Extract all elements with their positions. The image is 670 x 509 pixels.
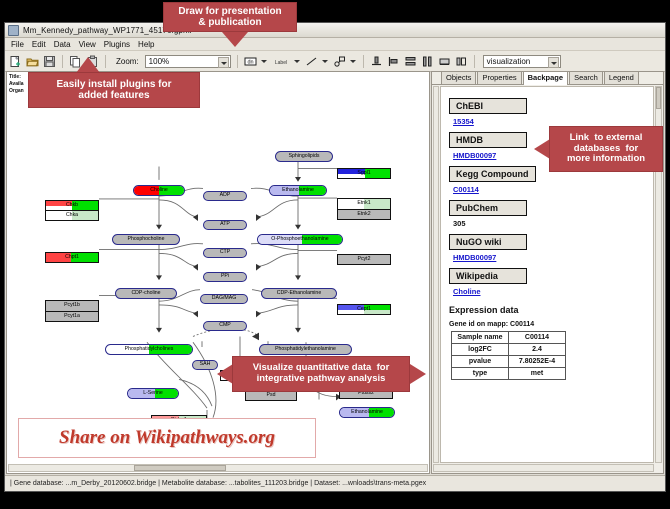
pathway-canvas[interactable]: Title: Availa Organ [7, 72, 429, 473]
gene-label: Chka [66, 213, 78, 218]
node-label: Ethanolamine [282, 188, 314, 193]
db-header-nugo-wiki: NuGO wiki [449, 234, 527, 250]
line-dropdown-icon[interactable] [322, 55, 329, 68]
node-ethanolamine-top[interactable]: Ethanolamine [269, 185, 327, 196]
node-sphingolipids[interactable]: Sphingolipids [275, 151, 333, 162]
gene-label: Pcyt1a [64, 314, 80, 319]
gene-chka[interactable]: Chka [45, 210, 99, 221]
node-label: O-Phosphoethanolamine [271, 237, 328, 242]
node-label: Phosphocholine [128, 237, 165, 242]
gene-chpt1[interactable]: Chpt1 [45, 252, 99, 263]
share-text: Share on Wikipathways.org [59, 427, 275, 449]
table-row: log2FC 2.4 [452, 344, 566, 356]
callout-share-wikipathways: Share on Wikipathways.org [18, 418, 316, 458]
callout-draw-for-presentation: Draw for presentation& publication [163, 2, 297, 32]
node-choline-top[interactable]: Choline [133, 185, 185, 196]
tab-properties[interactable]: Properties [477, 71, 521, 84]
align-top-icon[interactable] [370, 55, 383, 68]
line-tool-icon[interactable] [305, 55, 318, 68]
callout-visualize-arrow-left [217, 364, 233, 384]
expression-data-heading: Expression data [449, 305, 645, 315]
toolbar-separator [62, 55, 63, 68]
toolbar-separator-3 [237, 55, 238, 68]
status-bar: | Gene database: ...m_Derby_20120602.bri… [5, 475, 665, 491]
organism-label: Organ [9, 88, 24, 95]
node-label: SAH [200, 362, 211, 367]
callout-visualize-text: Visualize quantitative data forintegrati… [253, 363, 390, 385]
gene-label: Pcyt1b [64, 303, 80, 308]
gene-label: Sgpl1 [357, 171, 370, 176]
group-icon[interactable] [438, 55, 451, 68]
node-label: CDP-Ethanolamine [277, 291, 321, 296]
node-label: CMP [219, 323, 231, 328]
toolbar-separator-2 [105, 55, 106, 68]
canvas-hscroll-thumb[interactable] [134, 465, 226, 471]
gene-label: Chkb [66, 203, 78, 208]
gene-chkb[interactable]: Chkb [45, 200, 99, 210]
db-link-kegg-compound[interactable]: C00114 [453, 185, 645, 194]
pathway-canvas-panel[interactable]: Title: Availa Organ [6, 71, 430, 474]
gene-sgpl1[interactable]: Sgpl1 [337, 168, 391, 179]
node-label: ATP [220, 222, 230, 227]
menu-item-data[interactable]: Data [54, 40, 71, 49]
gene-label: Psd [267, 393, 276, 398]
new-file-icon[interactable] [9, 55, 22, 68]
db-link-nugo-wiki[interactable]: HMDB00097 [453, 253, 645, 262]
toolbar-separator-5 [474, 55, 475, 68]
db-header-kegg-compound: Kegg Compound [449, 166, 536, 182]
node-label: L-Serine [143, 391, 163, 396]
table-row: pvalue 7.80252E-4 [452, 356, 566, 368]
node-label: CDP-choline [131, 291, 160, 296]
callout-links-text: Link to externaldatabases formore inform… [567, 133, 645, 166]
node-label: Phosphatidylcholines [125, 347, 174, 352]
expr-val-pvalue: 7.80252E-4 [509, 356, 566, 368]
callout-draw-text: Draw for presentation& publication [178, 6, 281, 29]
node-ctp[interactable]: CTP [203, 248, 247, 258]
callout-visualize-data: Visualize quantitative data forintegrati… [232, 356, 410, 392]
expression-table: Sample name C00114 log2FC 2.4 pvalue 7.8… [451, 331, 566, 380]
callout-external-links: Link to externaldatabases formore inform… [549, 126, 663, 172]
node-sah[interactable]: SAH [192, 360, 218, 370]
node-label: Sphingolipids [289, 154, 320, 159]
shape-tool-icon[interactable] [333, 55, 346, 68]
node-phosphatidylcholines[interactable]: Phosphatidylcholines [105, 344, 193, 355]
tab-search[interactable]: Search [569, 71, 603, 84]
order-icon[interactable] [455, 55, 468, 68]
node-dag-mag[interactable]: DAG/MAG [200, 294, 248, 304]
toolbar: Zoom: 100% dn Label [5, 51, 665, 72]
pathway-title-block: Title: Availa Organ [9, 74, 24, 95]
expr-val-log2fc: 2.4 [509, 344, 566, 356]
title-label: Title: [9, 74, 24, 81]
callout-draw-arrow [222, 32, 248, 47]
node-label: PPi [221, 274, 229, 279]
expr-key-sample-name: Sample name [452, 332, 509, 344]
db-link-chebi[interactable]: 15354 [453, 117, 645, 126]
expr-key-type: type [452, 368, 509, 380]
menu-item-help[interactable]: Help [138, 40, 154, 49]
tab-objects[interactable]: Objects [441, 71, 476, 84]
table-row: type met [452, 368, 566, 380]
gene-label: Etnk2 [357, 212, 370, 217]
db-header-chebi: ChEBI [449, 98, 527, 114]
node-cdp-ethanolamine[interactable]: CDP-Ethanolamine [261, 288, 337, 299]
node-ethanolamine-right[interactable]: Ethanolamine [339, 407, 395, 418]
node-label: CTP [220, 250, 230, 255]
datanode-tool-icon[interactable]: dn [244, 55, 257, 68]
tab-backpage[interactable]: Backpage [523, 71, 568, 85]
db-header-pubchem: PubChem [449, 200, 527, 216]
open-folder-icon[interactable] [26, 55, 39, 68]
visualization-combobox[interactable]: visualization [483, 55, 561, 68]
node-o-phosphoethanolamine[interactable]: O-Phosphoethanolamine [257, 234, 343, 245]
node-ppi[interactable]: PPi [203, 272, 247, 282]
node-cdp-choline[interactable]: CDP-choline [115, 288, 177, 299]
gene-label: Pcyt2 [358, 257, 371, 262]
callout-plugins: Easily install plugins foradded features [28, 72, 200, 108]
gene-cept1[interactable]: Cept1 [337, 304, 391, 315]
label-dropdown-icon[interactable] [294, 55, 301, 68]
title-bar: Mm_Kennedy_pathway_WP1771_45176.gpml [5, 23, 665, 38]
table-row: Sample name C00114 [452, 332, 566, 344]
node-label: DAG/MAG [212, 296, 237, 301]
menu-item-edit[interactable]: Edit [32, 40, 46, 49]
screenshot-root: Mm_Kennedy_pathway_WP1771_45176.gpml Fil… [0, 0, 670, 509]
db-header-wikipedia: Wikipedia [449, 268, 527, 284]
zoom-combobox[interactable]: 100% [145, 55, 231, 68]
svg-text:dn: dn [247, 59, 253, 65]
svg-text:Label: Label [275, 60, 287, 66]
callout-visualize-arrow-right [410, 364, 426, 384]
expr-val-sample-name: C00114 [509, 332, 566, 344]
menu-bar: File Edit Data View Plugins Help [5, 38, 665, 51]
side-panel-horizontal-scrollbar[interactable] [433, 464, 654, 472]
zoom-value: 100% [149, 57, 169, 66]
visualization-chevron-down-icon[interactable] [548, 57, 559, 68]
side-panel-tabs: Objects Properties Backpage Search Legen… [432, 72, 663, 85]
gene-label: Cept1 [357, 307, 371, 312]
gene-label: Chpt1 [65, 255, 79, 260]
db-value-pubchem: 305 [453, 219, 645, 228]
gene-label: Etnk1 [357, 201, 370, 206]
node-atp[interactable]: ATP [203, 220, 247, 230]
distribute-horizontal-icon[interactable] [421, 55, 434, 68]
menu-item-view[interactable]: View [79, 40, 96, 49]
node-label: Phosphatidylethanolamine [275, 347, 336, 352]
align-left-icon[interactable] [387, 55, 400, 68]
status-text: | Gene database: ...m_Derby_20120602.bri… [5, 480, 426, 487]
node-label: Choline [150, 188, 168, 193]
node-phosphatidylethanolamine[interactable]: Phosphatidylethanolamine [259, 344, 352, 355]
gene-pcyt1b[interactable]: Pcyt1b [45, 300, 99, 311]
expr-val-type: met [509, 368, 566, 380]
datanode-dropdown-icon[interactable] [261, 55, 268, 68]
tab-legend[interactable]: Legend [604, 71, 639, 84]
db-link-wikipedia[interactable]: Choline [453, 287, 645, 296]
expr-key-pvalue: pvalue [452, 356, 509, 368]
toolbar-separator-4 [363, 55, 364, 68]
distribute-vertical-icon[interactable] [404, 55, 417, 68]
save-icon[interactable] [43, 55, 56, 68]
callout-links-arrow [534, 139, 550, 159]
expr-key-log2fc: log2FC [452, 344, 509, 356]
callout-plugins-arrow [76, 57, 100, 73]
node-adp[interactable]: ADP [203, 191, 247, 201]
gene-etnk2[interactable]: Etnk2 [337, 209, 391, 220]
gene-pcyt2[interactable]: Pcyt2 [337, 254, 391, 265]
side-panel-vscroll-thumb[interactable] [656, 87, 661, 109]
canvas-horizontal-scrollbar[interactable] [8, 464, 428, 472]
visualization-value: visualization [487, 57, 531, 66]
menu-item-plugins[interactable]: Plugins [104, 40, 130, 49]
node-phosphocholine[interactable]: Phosphocholine [112, 234, 180, 245]
node-cmp[interactable]: CMP [203, 321, 247, 331]
app-icon [8, 25, 19, 36]
node-label: Ethanolamine [351, 410, 383, 415]
shape-dropdown-icon[interactable] [350, 55, 357, 68]
menu-item-file[interactable]: File [11, 40, 24, 49]
gene-etnk1[interactable]: Etnk1 [337, 198, 391, 209]
chevron-down-icon[interactable] [218, 57, 229, 68]
availability-label: Availa [9, 81, 24, 88]
db-header-hmdb: HMDB [449, 132, 527, 148]
callout-plugins-text: Easily install plugins foradded features [56, 79, 171, 102]
node-l-serine-left[interactable]: L-Serine [127, 388, 179, 399]
gene-id-on-mapp: Gene id on mapp: C00114 [449, 321, 645, 328]
label-tool-icon[interactable]: Label [272, 55, 290, 68]
node-label: ADP [220, 193, 231, 198]
side-panel-left-spacer [433, 86, 439, 463]
gene-pcyt1a[interactable]: Pcyt1a [45, 311, 99, 322]
zoom-label: Zoom: [116, 57, 139, 66]
